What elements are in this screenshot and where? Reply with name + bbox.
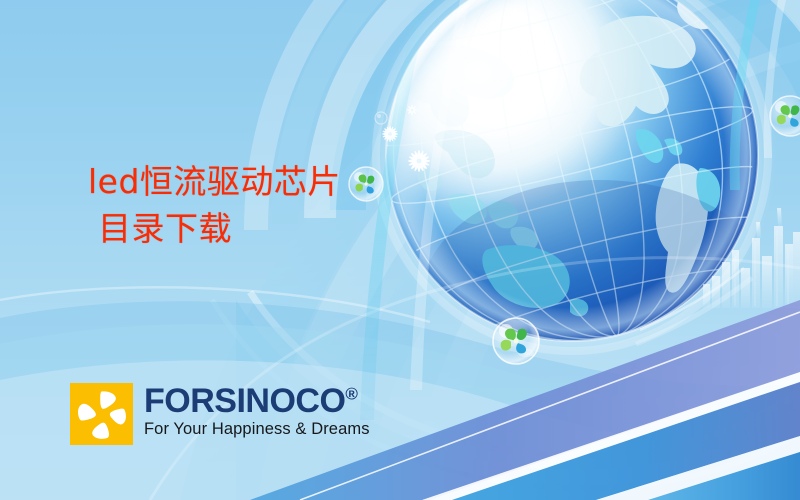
headline-text: led恒流驱动芯片 目录下载 [88, 160, 341, 250]
bubble-pinwheel-middle [493, 318, 539, 364]
brand-word: FORSINOCO [144, 382, 345, 420]
sparkle-large [408, 150, 430, 172]
bubble-pinwheel-top [349, 167, 383, 201]
brand-name: FORSINOCO® [144, 384, 370, 418]
banner-canvas: led恒流驱动芯片 目录下载 FORSINOCO® Fo [0, 0, 800, 500]
sparkle-small [382, 126, 398, 142]
logo-wordmark-block: FORSINOCO® For Your Happiness & Dreams [144, 383, 370, 438]
registered-trademark-icon: ® [345, 385, 358, 404]
forsinoco-pinwheel-mark [70, 383, 133, 445]
pinwheel-icon [70, 383, 133, 445]
headline-line-1: led恒流驱动芯片 [88, 162, 341, 201]
brand-tagline: For Your Happiness & Dreams [144, 420, 370, 438]
sparkle-left [407, 105, 418, 116]
forsinoco-logo[interactable]: FORSINOCO® For Your Happiness & Dreams [70, 383, 370, 445]
headline-line-2: 目录下载 [88, 207, 341, 251]
